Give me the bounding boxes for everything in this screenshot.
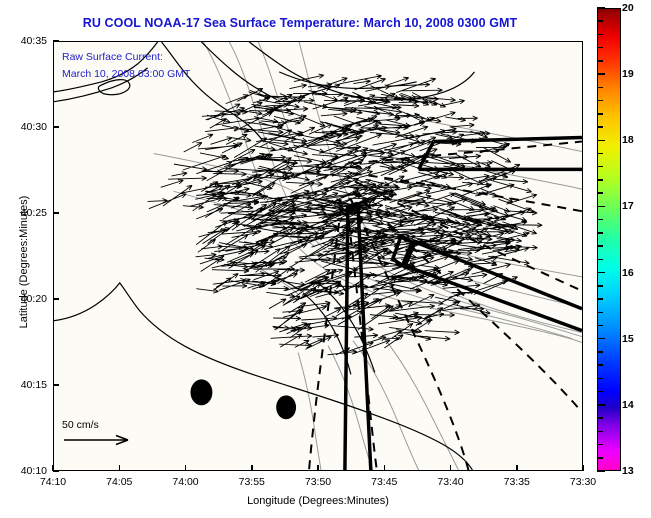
colorbar-tick <box>597 34 603 36</box>
vector-scale-legend: 50 cm/s <box>62 419 172 452</box>
y-axis-tick-label: 40:30 <box>0 121 47 133</box>
radar-station-markers[interactable] <box>190 379 296 419</box>
colorbar-tick-label: 14 <box>622 399 634 411</box>
x-axis-title: Longitude (Degrees:Minutes) <box>53 495 583 507</box>
x-axis-tick <box>582 465 584 471</box>
colorbar-tick <box>597 7 605 9</box>
x-axis-tick-label: 73:45 <box>371 476 397 488</box>
colorbar-tick <box>597 391 603 393</box>
x-axis-tick-label: 73:35 <box>504 476 530 488</box>
figure-title: RU COOL NOAA-17 Sea Surface Temperature:… <box>0 16 600 30</box>
colorbar-tick <box>597 364 603 366</box>
colorbar-tick <box>597 338 605 340</box>
vector-scale-arrow-icon <box>62 433 142 447</box>
x-axis-tick <box>516 465 518 471</box>
colorbar-tick <box>597 100 603 102</box>
x-axis-tick-label: 73:50 <box>305 476 331 488</box>
colorbar-tick <box>597 378 603 380</box>
radar-station-marker[interactable] <box>276 395 296 419</box>
colorbar-tick <box>597 457 603 459</box>
y-axis-tick <box>53 126 59 128</box>
colorbar-tick <box>597 272 605 274</box>
x-axis-tick <box>450 465 452 471</box>
temperature-colorbar[interactable] <box>597 8 621 471</box>
colorbar-tick-label: 19 <box>622 68 634 80</box>
colorbar-tick-label: 18 <box>622 134 634 146</box>
colorbar-tick-label: 17 <box>622 200 634 212</box>
colorbar-tick <box>597 73 605 75</box>
colorbar-tick-label: 13 <box>622 465 634 477</box>
colorbar-tick <box>597 140 605 142</box>
colorbar-tick <box>597 20 603 22</box>
annotation-line-1: Raw Surface Current: <box>62 51 163 63</box>
colorbar-tick <box>597 113 603 115</box>
vector-scale-label: 50 cm/s <box>62 419 172 431</box>
colorbar-tick <box>597 219 603 221</box>
colorbar-tick <box>597 192 603 194</box>
y-axis-tick <box>53 212 59 214</box>
x-axis-tick <box>384 465 386 471</box>
colorbar-tick <box>597 312 603 314</box>
x-axis-tick <box>185 465 187 471</box>
colorbar-tick-label: 20 <box>622 2 634 14</box>
colorbar-tick <box>597 245 603 247</box>
colorbar-tick <box>597 444 603 446</box>
colorbar-tick <box>597 351 603 353</box>
colorbar-tick <box>597 60 603 62</box>
x-axis-tick-label: 73:55 <box>239 476 265 488</box>
y-axis-tick <box>53 384 59 386</box>
colorbar-tick <box>597 259 603 261</box>
colorbar-tick <box>597 126 603 128</box>
x-axis-tick-label: 73:40 <box>437 476 463 488</box>
colorbar-tick-label: 16 <box>622 267 634 279</box>
x-axis-tick <box>317 465 319 471</box>
radar-bearing-lines <box>309 142 582 470</box>
colorbar-tick <box>597 470 605 472</box>
radar-station-marker[interactable] <box>190 379 212 405</box>
x-axis-tick <box>119 465 121 471</box>
colorbar-tick <box>597 166 603 168</box>
colorbar-tick <box>597 87 603 89</box>
colorbar-tick <box>597 404 605 406</box>
colorbar-tick <box>597 325 603 327</box>
colorbar-tick <box>597 153 603 155</box>
x-axis-tick-label: 73:30 <box>570 476 596 488</box>
colorbar-tick <box>597 179 603 181</box>
y-axis-tick <box>53 40 59 42</box>
y-axis-tick <box>53 470 59 472</box>
x-axis-tick-label: 74:10 <box>40 476 66 488</box>
x-axis-tick-label: 74:00 <box>172 476 198 488</box>
colorbar-tick <box>597 47 603 49</box>
colorbar-tick <box>597 285 603 287</box>
map-plot-area[interactable]: Raw Surface Current: March 10, 2008 03:0… <box>53 41 583 471</box>
figure-root: RU COOL NOAA-17 Sea Surface Temperature:… <box>0 0 651 518</box>
y-axis-tick-label: 40:10 <box>0 465 47 477</box>
y-axis-tick <box>53 298 59 300</box>
y-axis-title: Latitude (Degrees:Minutes) <box>18 142 30 382</box>
colorbar-tick-label: 15 <box>622 333 634 345</box>
map-canvas <box>54 42 582 470</box>
colorbar-tick <box>597 206 605 208</box>
annotation-line-2: March 10, 2008 03:00 GMT <box>62 68 190 80</box>
colorbar-tick <box>597 298 603 300</box>
x-axis-tick-label: 74:05 <box>106 476 132 488</box>
colorbar-tick <box>597 431 603 433</box>
x-axis-tick <box>251 465 253 471</box>
colorbar-tick <box>597 232 603 234</box>
colorbar-tick <box>597 417 603 419</box>
y-axis-tick-label: 40:35 <box>0 35 47 47</box>
